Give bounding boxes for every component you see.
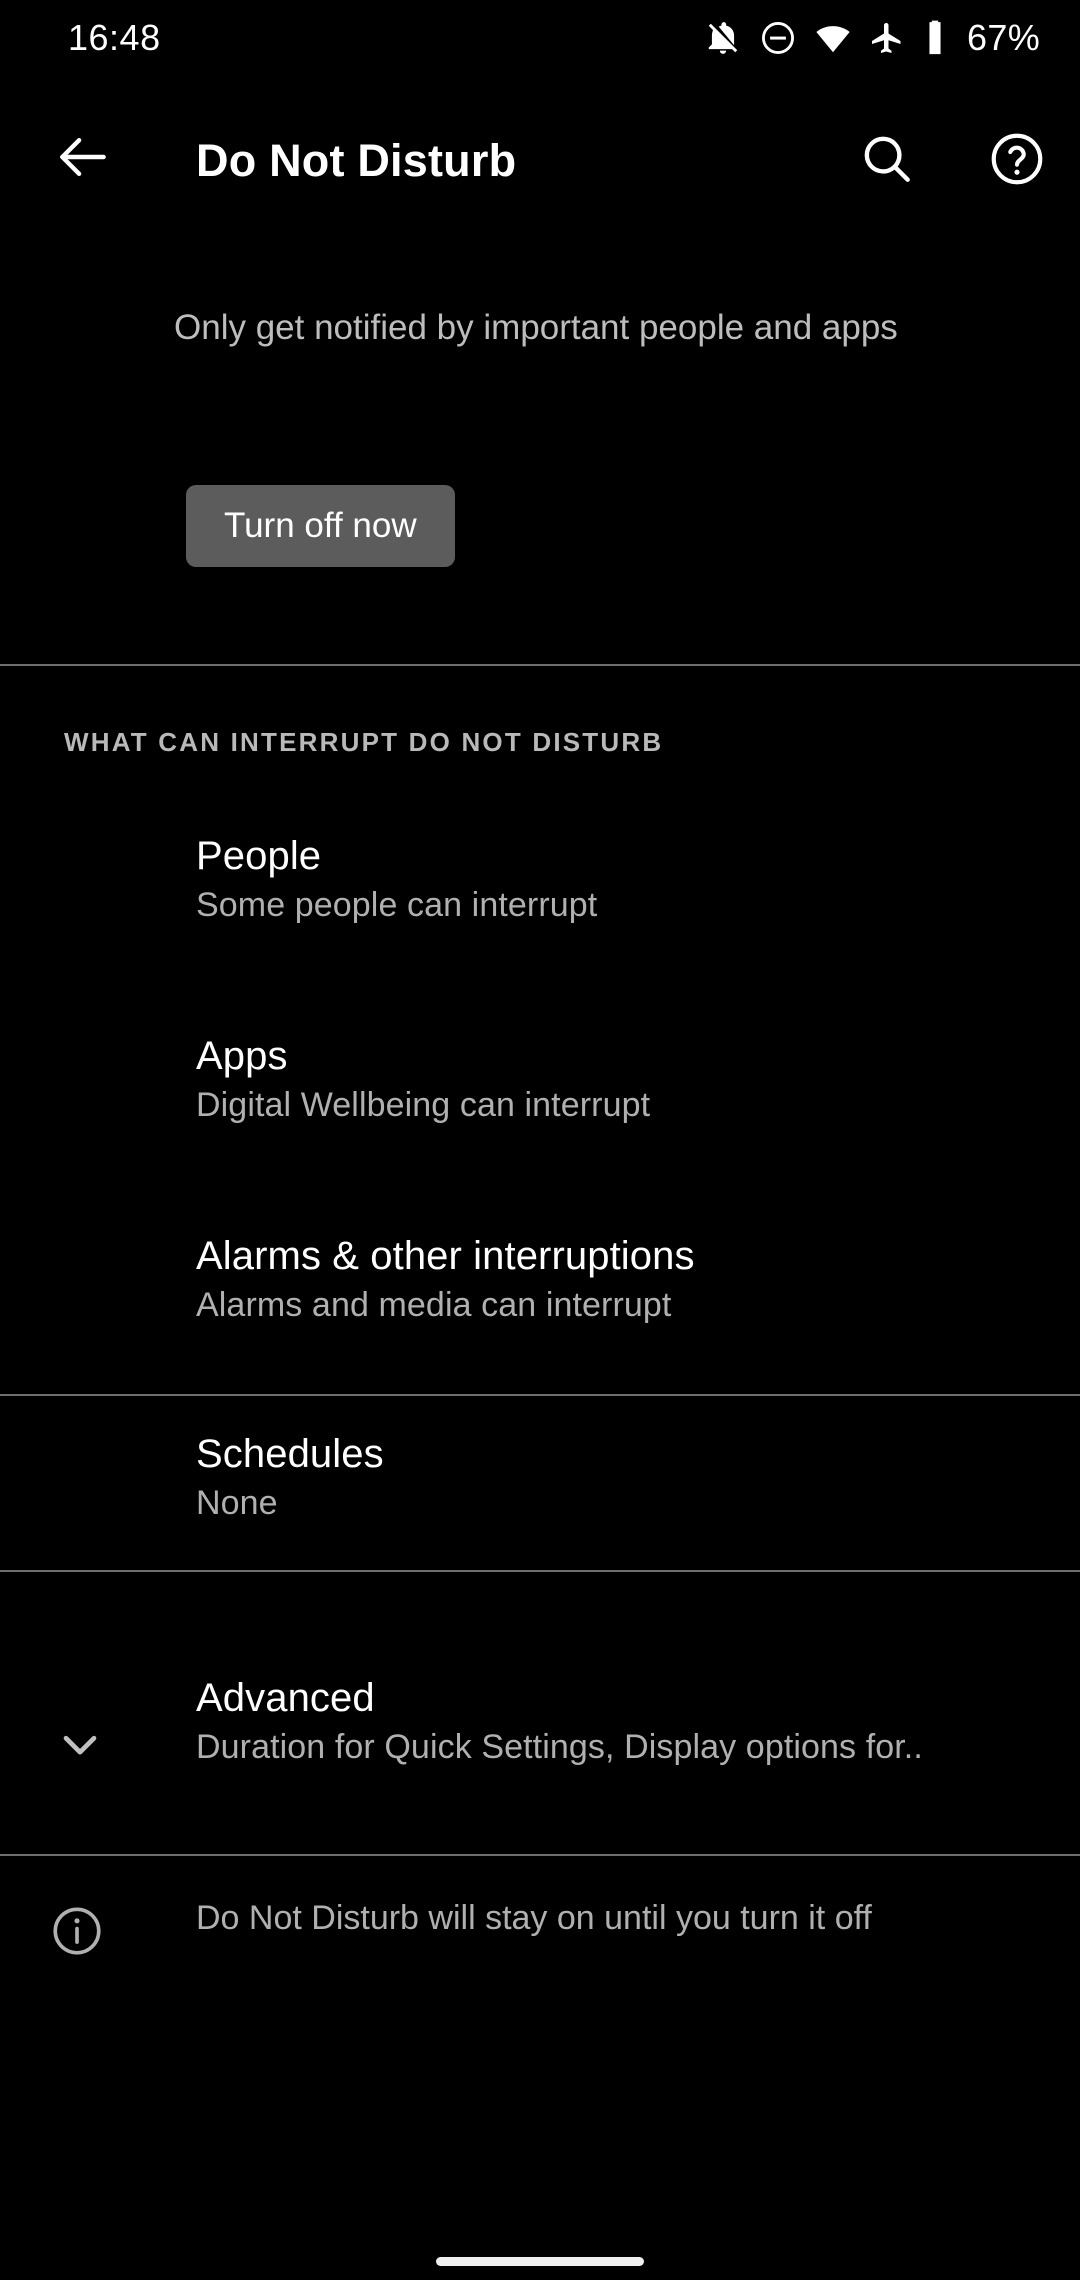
pref-summary: Alarms and media can interrupt <box>196 1282 1056 1328</box>
pref-title: Alarms & other interruptions <box>196 1230 1056 1282</box>
pref-row-alarms-other-interruptions[interactable]: Alarms & other interruptions Alarms and … <box>0 1230 1080 1350</box>
footer-hint: Do Not Disturb will stay on until you tu… <box>0 1880 1080 2010</box>
search-icon[interactable] <box>856 128 918 190</box>
pref-summary: Digital Wellbeing can interrupt <box>196 1082 1056 1128</box>
dnd-description: Only get notified by important people an… <box>174 305 914 351</box>
divider <box>0 1570 1080 1572</box>
toolbar: Do Not Disturb <box>0 118 1080 204</box>
info-icon <box>48 1902 106 1960</box>
pref-title: People <box>196 830 1056 882</box>
page-title: Do Not Disturb <box>196 118 516 204</box>
status-time: 16:48 <box>68 17 161 59</box>
notifications-off-icon <box>704 19 742 57</box>
battery-icon <box>922 19 948 57</box>
status-bar: 16:48 <box>0 0 1080 76</box>
footer-hint-text: Do Not Disturb will stay on until you tu… <box>196 1894 1056 1942</box>
pref-row-schedules[interactable]: Schedules None <box>0 1428 1080 1548</box>
dnd-settings-screen: 16:48 <box>0 0 1080 2280</box>
status-icons: 67% <box>704 17 1040 59</box>
divider <box>0 664 1080 666</box>
pref-summary: None <box>196 1480 1056 1526</box>
pref-row-people[interactable]: People Some people can interrupt <box>0 830 1080 950</box>
turn-off-now-button[interactable]: Turn off now <box>186 485 455 567</box>
gesture-nav-bar <box>0 2210 1080 2280</box>
back-button[interactable] <box>52 126 114 188</box>
airplane-mode-icon <box>869 20 905 56</box>
wifi-icon <box>814 19 852 57</box>
pref-row-advanced[interactable]: Advanced Duration for Quick Settings, Di… <box>0 1672 1080 1792</box>
pref-title: Advanced <box>196 1672 1056 1724</box>
help-icon[interactable] <box>986 128 1048 190</box>
home-gesture-pill[interactable] <box>436 2257 644 2266</box>
pref-title: Apps <box>196 1030 1056 1082</box>
pref-summary: Some people can interrupt <box>196 882 1056 928</box>
section-header-interrupt: WHAT CAN INTERRUPT DO NOT DISTURB <box>64 727 663 758</box>
pref-title: Schedules <box>196 1428 1056 1480</box>
divider <box>0 1854 1080 1856</box>
pref-row-apps[interactable]: Apps Digital Wellbeing can interrupt <box>0 1030 1080 1150</box>
do-not-disturb-icon <box>759 19 797 57</box>
battery-percent: 67% <box>967 17 1040 59</box>
pref-summary: Duration for Quick Settings, Display opt… <box>196 1724 1056 1770</box>
divider <box>0 1394 1080 1396</box>
